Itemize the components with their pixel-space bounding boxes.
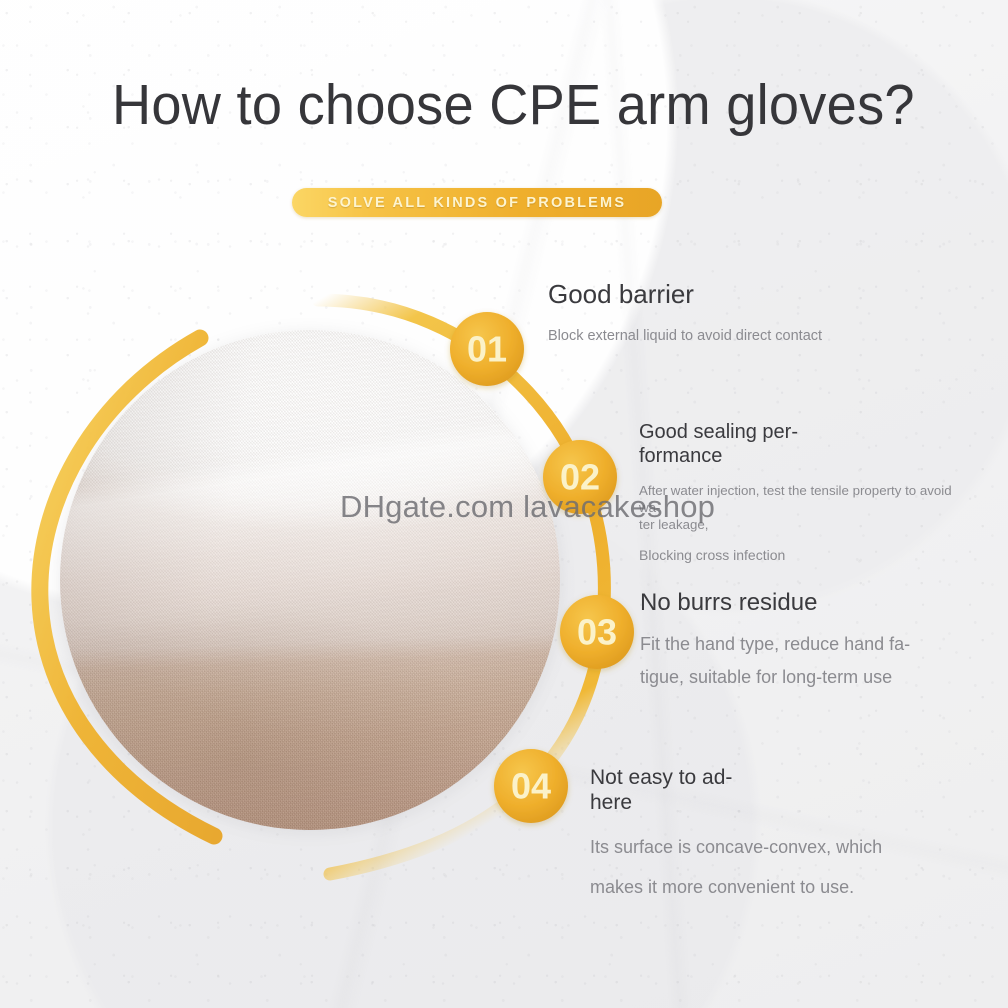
feature-node-04: 04 bbox=[494, 749, 568, 823]
feature-node-01: 01 bbox=[450, 312, 524, 386]
watermark-text: DHgate.com lavacakeshop bbox=[340, 489, 715, 525]
feature-item-04: Not easy to ad- here Its surface is conc… bbox=[590, 765, 930, 907]
feature-heading-01: Good barrier bbox=[548, 278, 948, 310]
feature-heading-03: No burrs residue bbox=[640, 588, 970, 618]
feature-node-03: 03 bbox=[560, 595, 634, 669]
feature-body-04: Its surface is concave-convex, which mak… bbox=[590, 827, 930, 907]
feature-heading-02: Good sealing per- formance bbox=[639, 420, 969, 468]
feature-heading-04: Not easy to ad- here bbox=[590, 765, 930, 815]
feature-item-01: Good barrier Block external liquid to av… bbox=[548, 278, 948, 346]
node-number-04: 04 bbox=[511, 766, 551, 807]
feature-body-03: Fit the hand type, reduce hand fa- tigue… bbox=[640, 628, 970, 694]
feature-item-03: No burrs residue Fit the hand type, redu… bbox=[640, 588, 970, 694]
feature-body-extra-02: Blocking cross infection bbox=[639, 546, 969, 564]
infographic-poster: How to choose CPE arm gloves? SOLVE ALL … bbox=[0, 0, 1008, 1008]
node-number-03: 03 bbox=[577, 612, 617, 653]
node-number-01: 01 bbox=[467, 329, 507, 370]
outer-decorative-arc bbox=[40, 338, 214, 836]
feature-body-01: Block external liquid to avoid direct co… bbox=[548, 326, 948, 346]
